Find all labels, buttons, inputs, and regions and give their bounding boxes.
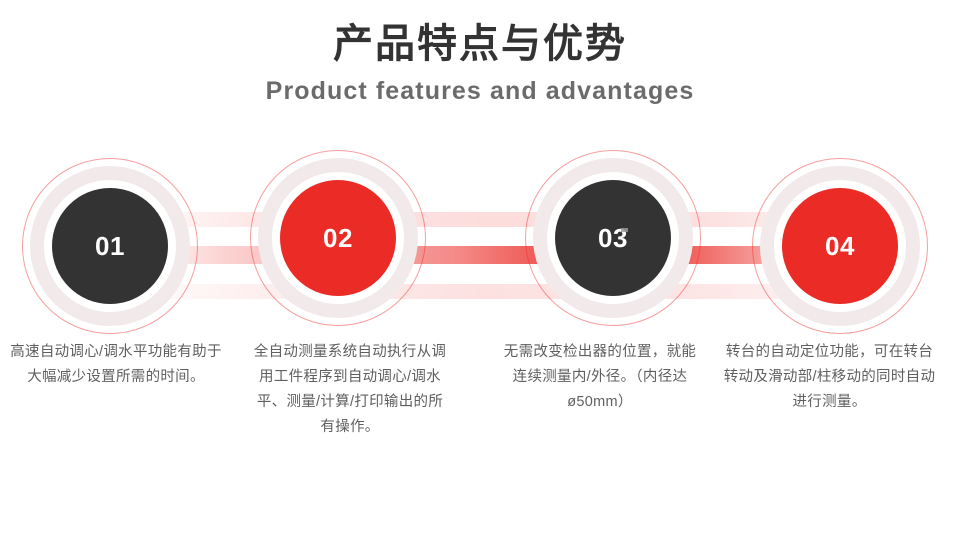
page-subtitle: Product features and advantages [0, 76, 960, 106]
node-disc-04: 04 [782, 188, 898, 304]
node-disc-02: 02 [280, 180, 396, 296]
node-disc-01: 01 [52, 188, 168, 304]
step-caption-02: 全自动测量系统自动执行从调用工件程序到自动调心/调水平、测量/计算/打印输出的所… [252, 340, 448, 440]
slide-header: 产品特点与优势 Product features and advantages [0, 22, 960, 106]
step-caption-04: 转台的自动定位功能，可在转台转动及滑动部/柱移动的同时自动进行测量。 [722, 340, 937, 415]
step-caption-01: 高速自动调心/调水平功能有助于大幅减少设置所需的时间。 [8, 340, 224, 390]
speck-artifact-icon [621, 228, 628, 232]
step-node-01[interactable]: 01 [30, 166, 190, 326]
node-number-02: 02 [323, 225, 353, 251]
node-number-04: 04 [825, 233, 855, 259]
step-node-03[interactable]: 03 [533, 158, 693, 318]
step-node-04[interactable]: 04 [760, 166, 920, 326]
page-title: 产品特点与优势 [0, 22, 960, 67]
node-number-01: 01 [95, 233, 125, 259]
step-node-02[interactable]: 02 [258, 158, 418, 318]
step-caption-03: 无需改变检出器的位置，就能连续测量内/外径。（内径达ø50mm） [500, 340, 700, 415]
slide-canvas: 产品特点与优势 Product features and advantages … [0, 0, 960, 540]
node-disc-03: 03 [555, 180, 671, 296]
